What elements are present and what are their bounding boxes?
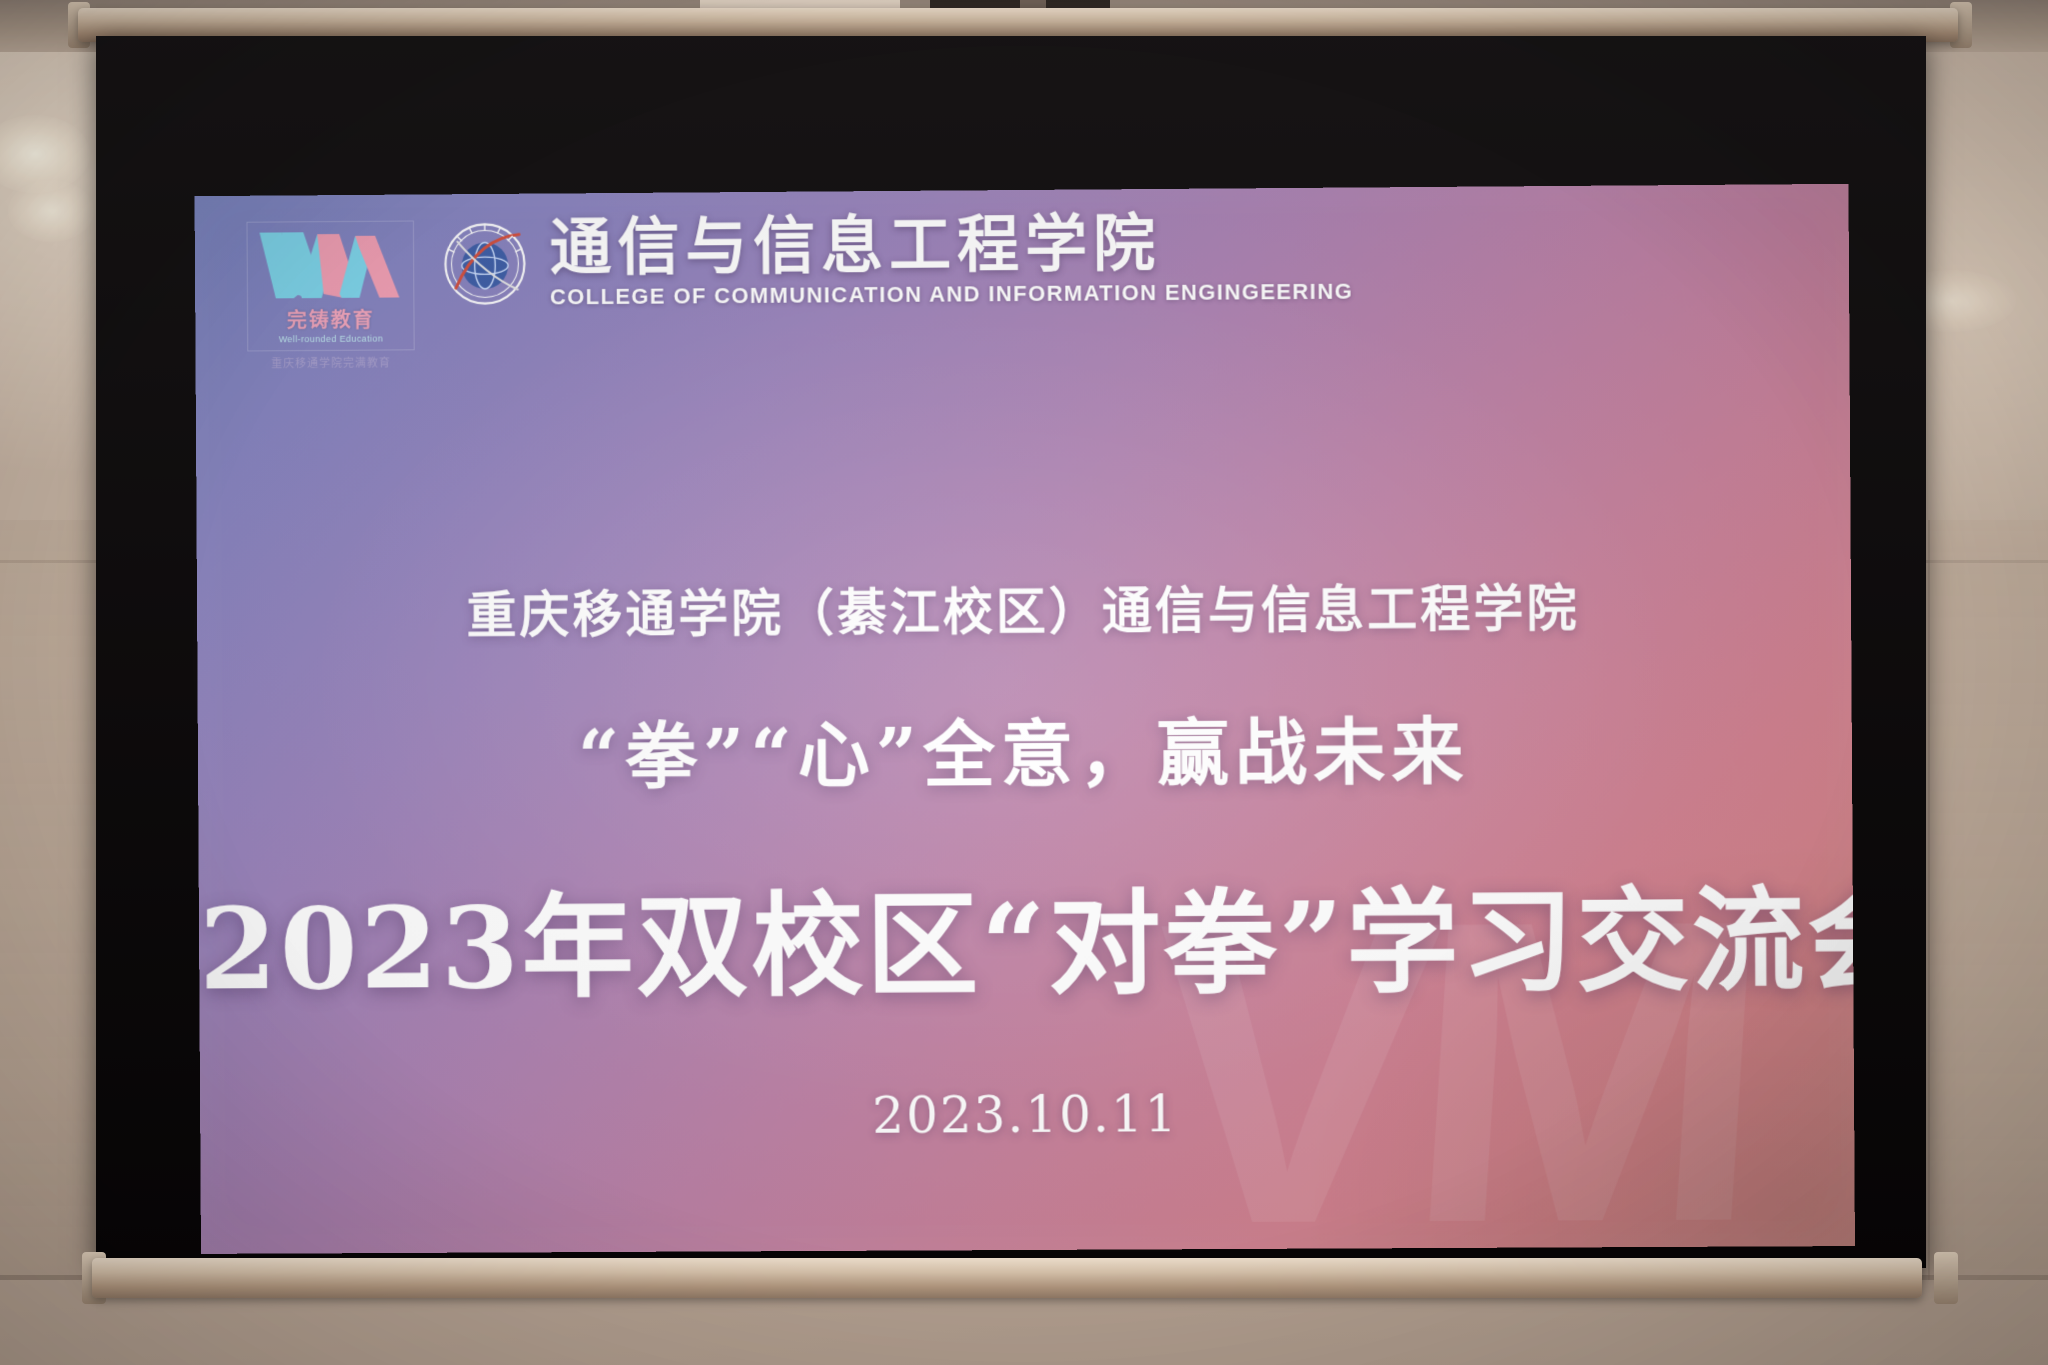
brand-en-name: Well-rounded Education [279,334,383,345]
roller-end-cap [1934,1252,1958,1304]
projector-screen-weight-bar [92,1258,1922,1298]
college-identity: 通信与信息工程学院 COLLEGE OF COMMUNICATION AND I… [442,210,1353,312]
organization-line: 重庆移通学院（綦江校区）通信与信息工程学院 [197,567,1851,650]
brand-cn-name: 完铸教育 [287,304,375,334]
college-emblem-icon [442,220,528,307]
ceiling-light-icon [8,180,94,242]
slogan-line: “拳”“心”全意，赢战未来 [198,690,1853,805]
projected-slide: VM 完铸教育 Well-rounded Education 重庆移通学院完满教… [195,184,1855,1254]
college-en-title: COLLEGE OF COMMUNICATION AND INFORMATION… [550,279,1353,311]
wall-panel-right [1928,520,2048,1280]
slide-main-title: 2023年双校区“对拳”学习交流会 [199,850,1854,1021]
slide-date: 2023.10.11 [200,1082,1854,1148]
conference-room-photo: VM 完铸教育 Well-rounded Education 重庆移通学院完满教… [0,0,2048,1365]
vm-logo-icon [255,228,405,303]
brand-logo-vm: 完铸教育 Well-rounded Education [246,220,414,351]
college-cn-title: 通信与信息工程学院 [549,210,1353,281]
slide-header: 完铸教育 Well-rounded Education 重庆移通学院完满教育 [195,192,1850,354]
brand-sub-line: 重庆移通学院完满教育 [247,354,414,371]
